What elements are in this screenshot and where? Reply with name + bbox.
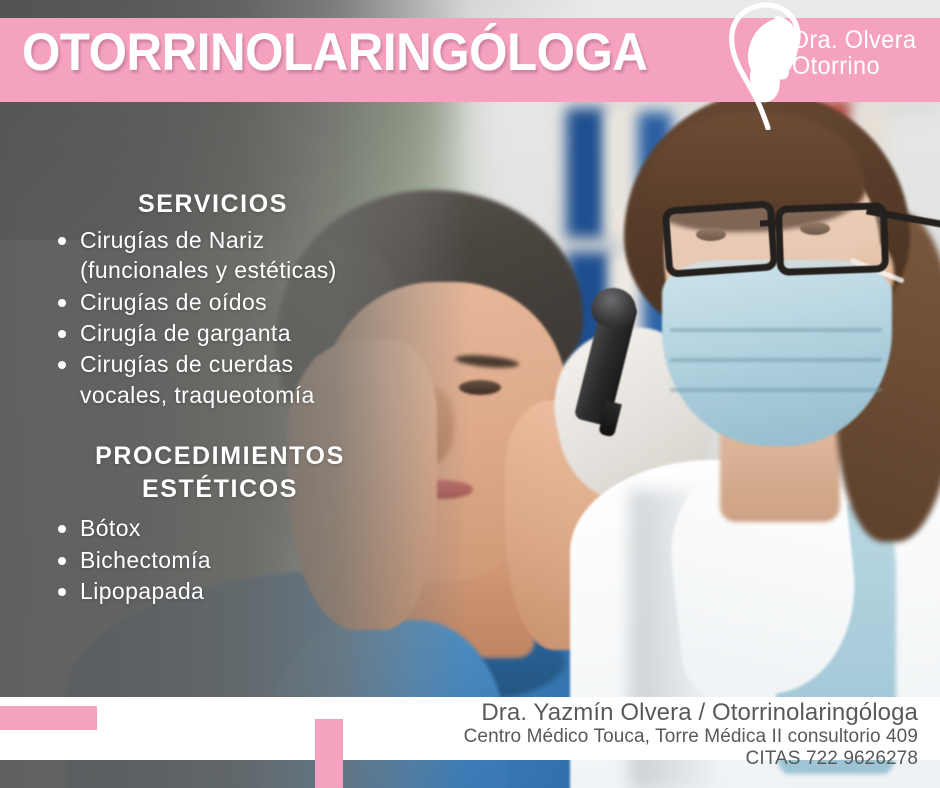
doctor-eyeglasses <box>660 204 886 266</box>
list-item: Bótox <box>58 513 470 543</box>
brand-logo: Dra. Olvera Otorrino <box>706 2 940 130</box>
services-list: Cirugías de Nariz (funcionales y estétic… <box>0 225 470 410</box>
service-text: Cirugías de oídos <box>80 289 267 315</box>
service-text: Cirugía de garganta <box>80 320 291 346</box>
mask-pleat <box>670 328 882 332</box>
eyeglass-bridge <box>760 219 782 226</box>
list-item: Cirugías de cuerdas vocales, traqueotomí… <box>58 349 470 410</box>
procedure-text: Bichectomía <box>80 547 211 573</box>
page-title: OTORRINOLARINGÓLOGA <box>22 22 648 83</box>
list-item: Cirugía de garganta <box>58 318 470 348</box>
procedures-block: PROCEDIMIENTOS ESTÉTICOS Bótox Bichectom… <box>0 440 470 606</box>
footer-contact-info: Dra. Yazmín Olvera / Otorrinolaringóloga… <box>278 700 918 771</box>
copy-column: SERVICIOS Cirugías de Nariz (funcionales… <box>0 190 470 607</box>
logo-line-2: Otorrino <box>792 54 916 80</box>
procedures-heading: PROCEDIMIENTOS ESTÉTICOS <box>0 440 470 505</box>
list-item: Cirugías de oídos <box>58 287 470 317</box>
logo-text: Dra. Olvera Otorrino <box>792 28 924 80</box>
list-item: Bichectomía <box>58 545 470 575</box>
eyeglass-lens-left <box>662 200 779 278</box>
mask-pleat <box>670 388 882 392</box>
procedures-heading-line2: ESTÉTICOS <box>0 473 440 506</box>
service-text-cont: vocales, traqueotomía <box>80 380 470 410</box>
procedures-heading-line1: PROCEDIMIENTOS <box>0 440 440 473</box>
doctor-figure <box>600 92 940 788</box>
procedure-text: Lipopapada <box>80 578 204 604</box>
services-heading: SERVICIOS <box>0 190 470 219</box>
appointments-phone-line: CITAS 722 9626278 <box>278 748 918 770</box>
list-item: Cirugías de Nariz (funcionales y estétic… <box>58 225 470 286</box>
service-text-cont: (funcionales y estéticas) <box>80 255 470 285</box>
service-text: Cirugías de cuerdas <box>80 351 293 377</box>
footer-accent-bar-horizontal <box>0 706 97 730</box>
mask-pleat <box>670 358 882 362</box>
logo-line-1: Dra. Olvera <box>792 28 916 54</box>
service-text: Cirugías de Nariz <box>80 227 264 253</box>
procedure-text: Bótox <box>80 515 141 541</box>
list-item: Lipopapada <box>58 576 470 606</box>
clinic-address-line: Centro Médico Touca, Torre Médica II con… <box>278 726 918 748</box>
procedures-list: Bótox Bichectomía Lipopapada <box>0 513 470 606</box>
doctor-name-line: Dra. Yazmín Olvera / Otorrinolaringóloga <box>278 700 918 726</box>
poster-canvas: OTORRINOLARINGÓLOGA Dra. Olvera Otorrino… <box>0 0 940 788</box>
